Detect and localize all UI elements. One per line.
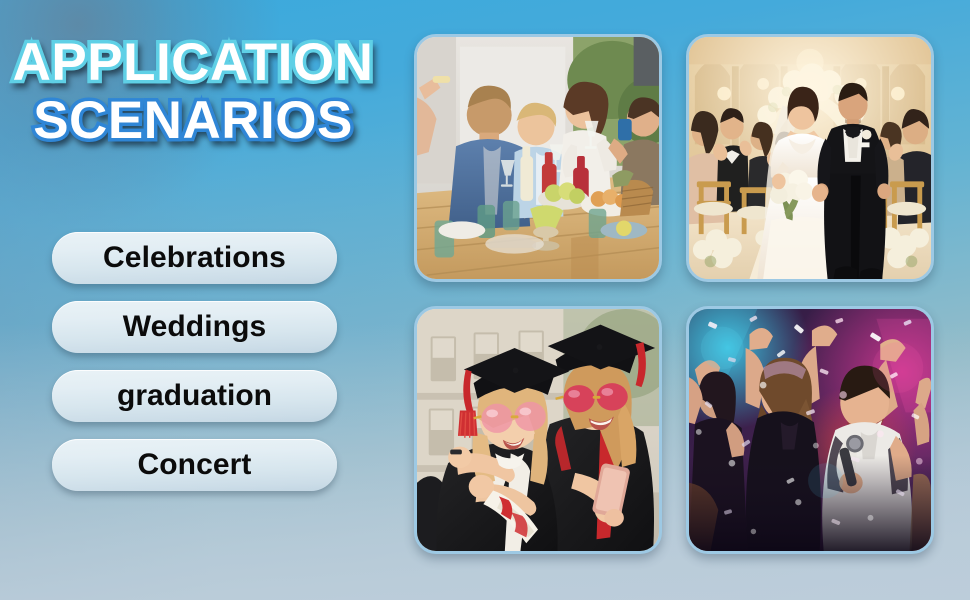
scenario-pill-weddings-label: Weddings: [123, 312, 267, 342]
scenario-list: Celebrations Weddings graduation Concert: [52, 232, 342, 508]
title-line-1: APPLICATION APPLICATION APPLICATION: [0, 36, 386, 90]
graduation-photo[interactable]: [414, 306, 662, 554]
title-line-2: SCENARIOS SCENARIOS SCENARIOS: [0, 94, 386, 148]
scenario-pill-graduation-label: graduation: [117, 381, 272, 411]
left-panel: APPLICATION APPLICATION APPLICATION SCEN…: [0, 0, 400, 600]
photo-grid: [414, 34, 934, 566]
scenario-pill-concert[interactable]: Concert: [52, 439, 337, 491]
scenario-pill-celebrations-label: Celebrations: [103, 243, 286, 273]
scenario-pill-weddings[interactable]: Weddings: [52, 301, 337, 353]
scenario-pill-concert-label: Concert: [137, 450, 251, 480]
title-line-1-text: APPLICATION: [13, 33, 374, 92]
scenario-pill-celebrations[interactable]: Celebrations: [52, 232, 337, 284]
concert-photo[interactable]: [686, 306, 934, 554]
scenario-pill-graduation[interactable]: graduation: [52, 370, 337, 422]
wedding-photo[interactable]: [686, 34, 934, 282]
page-title: APPLICATION APPLICATION APPLICATION SCEN…: [0, 36, 386, 148]
title-line-2-text: SCENARIOS: [33, 91, 353, 150]
celebration-photo[interactable]: [414, 34, 662, 282]
